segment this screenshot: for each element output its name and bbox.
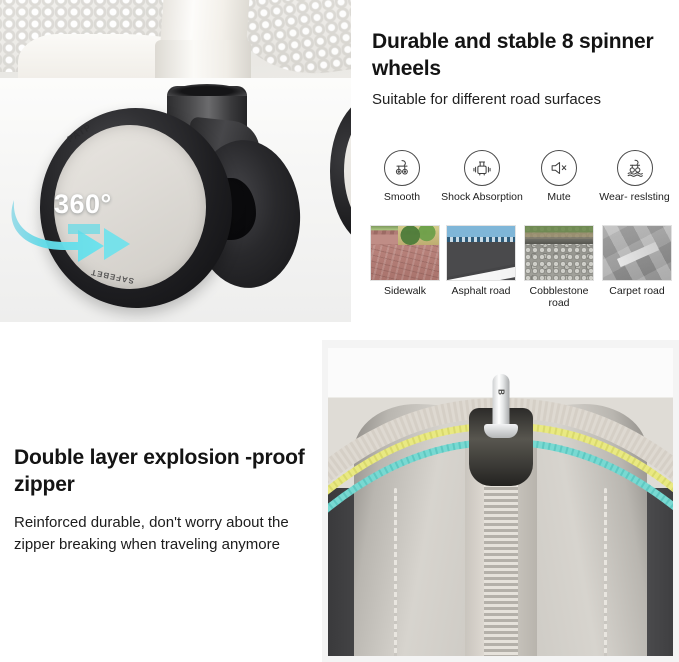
cobblestone-road-thumbnail (524, 225, 594, 281)
speaker-mute-icon (541, 150, 577, 186)
carpet-road-thumbnail (602, 225, 672, 281)
zipper-photo-inner: B (328, 348, 673, 656)
zipper-headline: Double layer explosion -proof zipper (14, 444, 314, 498)
zipper-info-column: Double layer explosion -proof zipper Rei… (0, 340, 320, 662)
feature-label: Shock Absorption (441, 191, 523, 204)
road-surface-asphalt: Asphalt road (442, 225, 520, 317)
wear-resisting-wheel-icon (617, 150, 653, 186)
wheels-headline: Durable and stable 8 spinner wheels (372, 28, 679, 82)
shock-absorption-icon (464, 150, 500, 186)
road-surface-caption: Asphalt road (452, 285, 511, 297)
wheels-info-column: Durable and stable 8 spinner wheels Suit… (368, 0, 679, 322)
feature-item-smooth: Smooth (368, 150, 436, 204)
feature-label: Smooth (384, 191, 420, 204)
rotation-degree-label: 360° (54, 189, 112, 220)
road-surface-carpet: Carpet road (598, 225, 676, 317)
road-surface-caption: Sidewalk (384, 285, 426, 297)
road-surface-row: Sidewalk Asphalt road Cobblestone road C… (368, 225, 679, 317)
zipper-pull-tip (484, 424, 518, 438)
road-surface-sidewalk: Sidewalk (368, 225, 442, 317)
feature-label: Wear- reslsting (599, 191, 669, 204)
wheels-subheadline: Suitable for different road surfaces (372, 90, 678, 110)
road-surface-cobblestone: Cobblestone road (520, 225, 598, 317)
feature-item-mute: Mute (528, 150, 590, 204)
sidewalk-thumbnail (370, 225, 440, 281)
caster-wheel-icon (384, 150, 420, 186)
road-surface-caption: Cobblestone road (523, 285, 595, 309)
double-layer-zipper-photo: B (322, 340, 679, 662)
feature-label: Mute (547, 191, 570, 204)
zipper-brand-mark: B (496, 389, 505, 396)
asphalt-road-thumbnail (446, 225, 516, 281)
spinner-wheel-photo: PATP SAFEBET 360° (0, 0, 351, 322)
feature-item-shock-absorption: Shock Absorption (436, 150, 528, 204)
feature-icon-row: Smooth Shock Absorption (368, 150, 679, 212)
road-surface-caption: Carpet road (609, 285, 664, 297)
zipper-body-text: Reinforced durable, don't worry about th… (14, 512, 314, 556)
feature-item-wear-resisting: Wear- reslsting (590, 150, 679, 204)
zipper-pull-tab (492, 374, 509, 428)
product-infographic: PATP SAFEBET 360° Durable and stable 8 s… (0, 0, 679, 662)
